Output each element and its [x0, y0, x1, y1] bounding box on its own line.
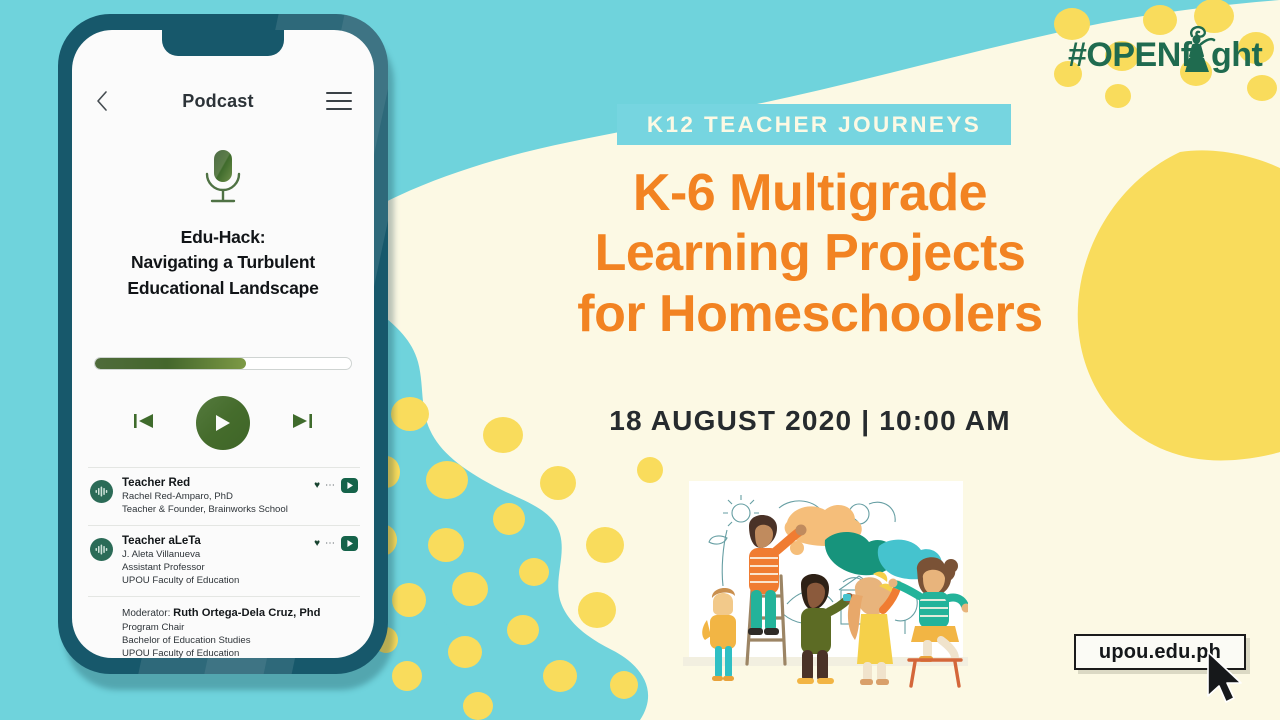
list-item[interactable]: Teacher Red Rachel Red-Amparo, PhD Teach…	[88, 467, 360, 525]
episode-title-line-4: Landscape	[229, 278, 319, 298]
children-painting-mural-illustration	[683, 478, 968, 693]
speaker-affiliation: UPOU Faculty of Education	[122, 575, 358, 588]
list-item[interactable]: Teacher aLeTa J. Aleta Villanueva Assist…	[88, 525, 360, 596]
logo-text-after: ght	[1211, 36, 1263, 74]
microphone-icon	[195, 148, 251, 213]
openfight-logo: #OPENf ght	[1068, 22, 1268, 80]
row-actions: ♥ ⋯	[314, 536, 358, 551]
website-url-text: upou.edu.ph	[1099, 641, 1221, 664]
moderator-line-3: UPOU Faculty of Education	[122, 648, 358, 658]
speaker-role: Teacher & Founder, Brainworks School	[122, 504, 358, 517]
playback-progress-fill	[95, 358, 246, 369]
ellipsis-icon[interactable]: ⋯	[325, 539, 336, 549]
speaker-role: Assistant Professor	[122, 562, 358, 575]
series-ribbon: K12 TEACHER JOURNEYS	[617, 104, 1011, 145]
heart-icon[interactable]: ♥	[314, 481, 320, 491]
moderator-line-2: Bachelor of Education Studies	[122, 635, 358, 648]
hamburger-menu-icon[interactable]	[326, 92, 352, 110]
chevron-left-icon[interactable]	[94, 90, 110, 112]
moderator-label: Moderator:	[122, 608, 170, 619]
episode-title: Edu-Hack: Navigating a Turbulent Educati…	[86, 225, 360, 301]
player-controls	[94, 392, 352, 454]
play-icon[interactable]	[341, 536, 358, 551]
speaker-list: Teacher Red Rachel Red-Amparo, PhD Teach…	[88, 467, 360, 658]
play-icon[interactable]	[341, 478, 358, 493]
playback-progress-bar[interactable]	[94, 357, 352, 370]
play-button[interactable]	[196, 396, 250, 450]
event-datetime: 18 AUGUST 2020 | 10:00 AM	[500, 405, 1120, 437]
series-label: K12 TEACHER JOURNEYS	[647, 112, 981, 138]
heart-icon[interactable]: ♥	[314, 539, 320, 549]
row-actions: ♥ ⋯	[314, 478, 358, 493]
logo-text-before: #OPENf	[1068, 36, 1193, 74]
audio-wave-icon	[90, 480, 113, 503]
headline-line-1: K-6 Multigrade	[500, 163, 1120, 223]
poster-canvas: Podcast	[0, 0, 1280, 720]
mouse-pointer-icon	[1205, 650, 1251, 710]
headline-line-2: Learning Projects	[500, 223, 1120, 283]
episode-title-line-1: Edu-Hack:	[86, 225, 360, 250]
phone-screen: Podcast	[72, 30, 374, 658]
moderator-block: Moderator: Ruth Ortega-Dela Cruz, Phd Pr…	[88, 596, 360, 658]
moderator-line-1: Program Chair	[122, 622, 358, 635]
audio-wave-icon	[90, 538, 113, 561]
phone-notch	[162, 30, 284, 56]
page-title: K-6 Multigrade Learning Projects for Hom…	[500, 163, 1120, 344]
episode-title-line-2: Navigating a	[131, 252, 233, 272]
skip-next-icon[interactable]	[290, 411, 314, 436]
headline-line-3: for Homeschoolers	[500, 284, 1120, 344]
ellipsis-icon[interactable]: ⋯	[325, 481, 336, 491]
phone-frame: Podcast	[58, 14, 388, 674]
phone-mockup: Podcast	[58, 14, 398, 690]
app-title: Podcast	[182, 91, 253, 112]
app-header: Podcast	[72, 90, 374, 112]
moderator-name: Ruth Ortega-Dela Cruz, Phd	[173, 607, 320, 619]
skip-previous-icon[interactable]	[132, 411, 156, 436]
